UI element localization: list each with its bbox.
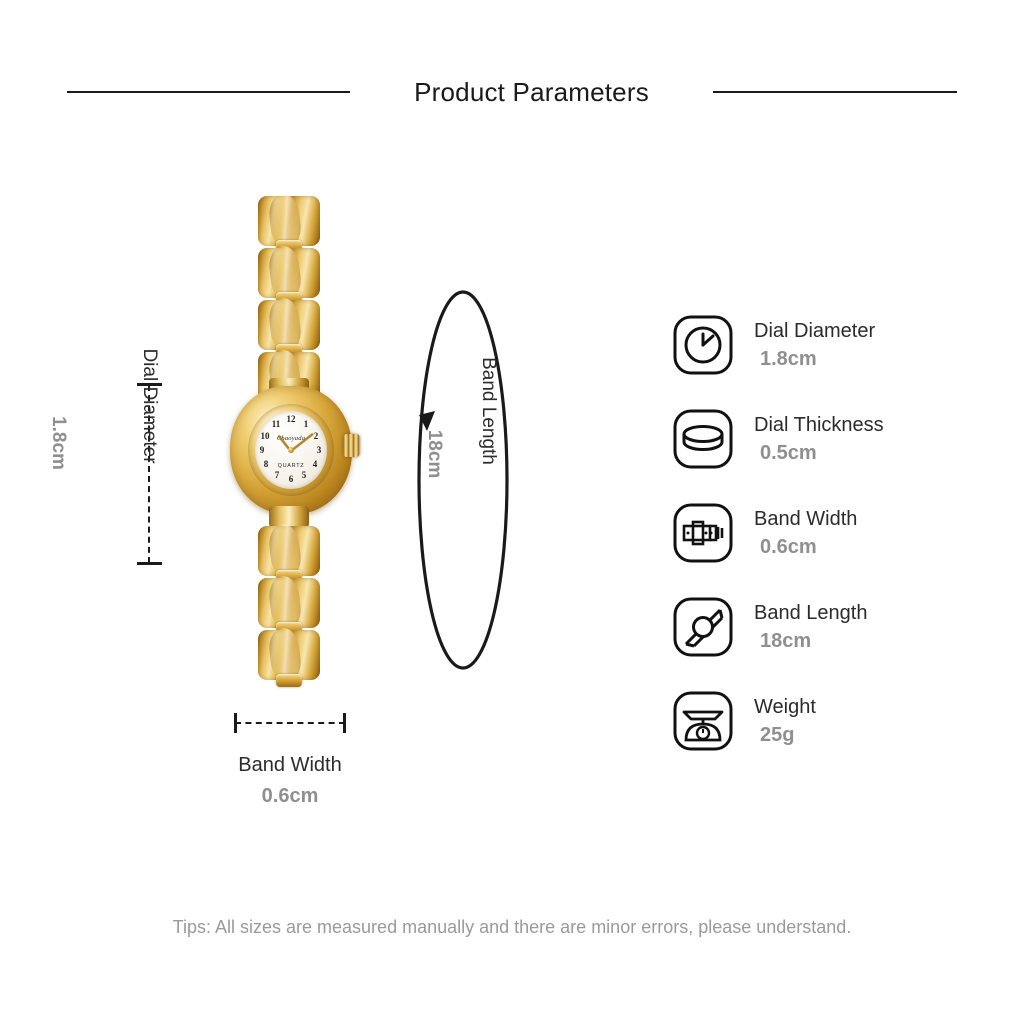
bracelet-link [258,248,320,298]
spec-value: 18cm [754,629,867,653]
dial-diameter-annotation-label: Dial Diameter [138,321,160,491]
bracelet-pin [276,674,302,687]
tips-note: Tips: All sizes are measured manually an… [0,917,1024,938]
watch-strap-icon [672,596,734,658]
spec-label: Dial Diameter [754,319,875,343]
bracelet-link [258,526,320,576]
bracelet-lower [258,526,320,712]
watch-bezel: 12 1 2 3 4 5 6 7 8 9 10 11 Chaoyada QUAR… [248,404,334,496]
spec-row-dial-diameter: Dial Diameter 1.8cm [672,298,1002,392]
dial-numeral: 12 [285,415,297,424]
measure-cap-right [343,713,346,733]
dial-numeral: 7 [271,471,283,480]
measure-cap-bottom [137,562,162,565]
dial-brand-text: Chaoyada [255,435,327,442]
spec-row-weight: Weight 25g [672,674,1002,768]
dial-numeral: 3 [313,446,325,455]
clock-icon [672,314,734,376]
band-length-annotation-value: 18cm [423,394,445,514]
bracelet-link [258,196,320,246]
spec-value: 25g [754,723,816,747]
measure-dashed-line [235,722,345,724]
spec-row-dial-thickness: Dial Thickness 0.5cm [672,392,1002,486]
bracelet-link [258,630,320,680]
dial-numeral: 9 [256,446,268,455]
dial-numeral: 1 [300,420,312,429]
band-width-annotation-value: 0.6cm [190,785,390,808]
dial-numeral: 5 [298,471,310,480]
spec-value: 0.6cm [754,535,857,559]
spec-text: Dial Thickness 0.5cm [754,413,884,465]
bracelet-link [258,300,320,350]
bracelet-link [258,578,320,628]
band-width-measure-line [232,712,348,736]
title-rule-right [713,91,957,93]
dial-numeral: 11 [270,420,282,429]
bracelet-upper [258,196,320,400]
page-header: Product Parameters [0,70,1024,114]
watch-crown [343,434,360,457]
watch-case: 12 1 2 3 4 5 6 7 8 9 10 11 Chaoyada QUAR… [230,386,352,514]
dial-numeral: 6 [285,475,297,484]
scale-icon [672,690,734,752]
watch-dial: 12 1 2 3 4 5 6 7 8 9 10 11 Chaoyada QUAR… [255,411,327,489]
spec-label: Band Width [754,507,857,531]
spec-text: Band Length 18cm [754,601,867,653]
spec-value: 0.5cm [754,441,884,465]
cylinder-icon [672,408,734,470]
dial-diameter-annotation-value: 1.8cm [47,393,69,493]
band-width-annotation-label: Band Width [190,754,390,777]
spec-text: Dial Diameter 1.8cm [754,319,875,371]
spec-text: Weight 25g [754,695,816,747]
spec-text: Band Width 0.6cm [754,507,857,559]
spec-label: Weight [754,695,816,719]
spec-row-band-width: Band Width 0.6cm [672,486,1002,580]
buckle-icon [672,502,734,564]
page-title: Product Parameters [350,79,713,105]
spec-row-band-length: Band Length 18cm [672,580,1002,674]
spec-label: Dial Thickness [754,413,884,437]
hand-pivot [288,447,294,453]
dial-movement-text: QUARTZ [255,463,327,469]
spec-value: 1.8cm [754,347,875,371]
spec-list: Dial Diameter 1.8cm Dial Thickness 0.5cm [672,298,1002,768]
spec-label: Band Length [754,601,867,625]
watch-product-image: 12 1 2 3 4 5 6 7 8 9 10 11 Chaoyada QUAR… [225,196,385,712]
title-rule-left [67,91,350,93]
band-length-annotation-label: Band Length [477,321,499,501]
